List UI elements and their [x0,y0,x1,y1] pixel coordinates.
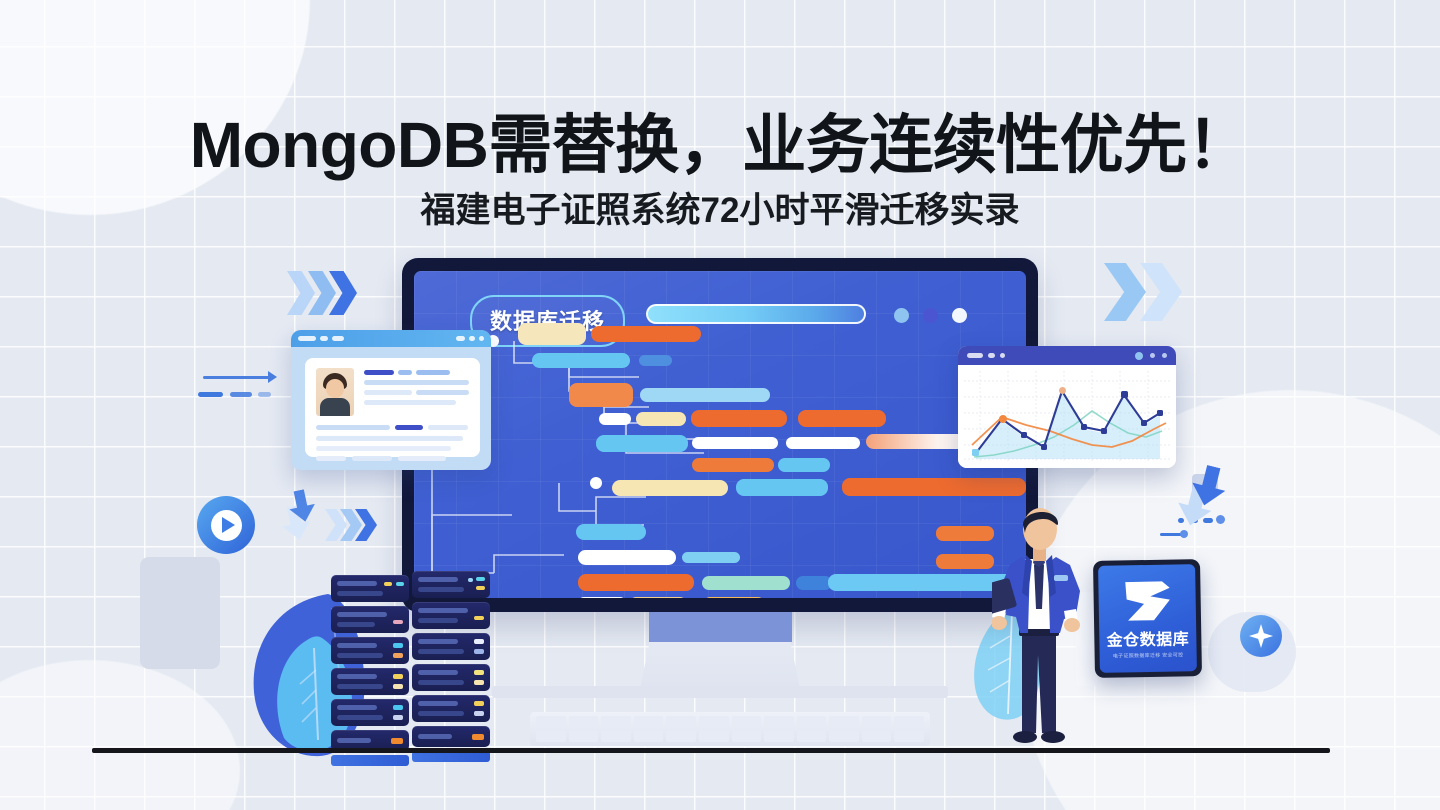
titlebar-segments [967,353,1005,358]
keyboard[interactable] [530,712,930,746]
key [699,731,729,743]
key [634,731,664,743]
dash-right-a [1178,518,1184,523]
server-slot [418,734,452,739]
dot-light-blue[interactable] [1135,352,1143,360]
decor-rounded-rect [140,557,220,669]
dash-b [230,392,252,397]
server-slot [337,612,387,617]
led-indicator [393,705,403,710]
migration-tree-diagram [414,271,1026,598]
titlebar-seg [1000,353,1005,358]
analytics-chart-window[interactable] [958,346,1176,468]
dash-right-c [1203,518,1213,523]
avatar-face [326,379,344,398]
titlebar-seg [298,336,316,341]
diagram-bar [702,576,790,590]
diagram-bar [692,458,774,472]
key [862,731,892,743]
server-slot [418,618,458,623]
key [894,731,924,743]
diagram-bar [599,413,631,425]
led-indicator [391,738,403,744]
server-unit [331,699,409,726]
led-indicator [393,715,403,720]
diagram-bar [778,458,830,472]
led-indicator [474,649,484,654]
key [829,731,859,743]
server-slot [337,738,371,743]
server-unit [412,695,490,722]
diagram-bar [569,383,633,407]
key [699,716,729,728]
key [634,716,664,728]
play-triangle-icon [222,517,235,533]
server-unit [331,575,409,602]
brand-name: 金仓数据库 [1106,625,1189,650]
server-slot [418,711,464,716]
dash-c [258,392,271,397]
server-slot [337,653,383,658]
diagram-bar [692,437,778,449]
led-indicator [396,582,404,586]
led-indicator [476,577,485,581]
field-row [364,400,456,405]
monitor-stand-band [649,612,792,642]
server-unit [412,664,490,691]
field-row [398,456,446,461]
led-indicator [474,711,484,716]
key [536,716,566,728]
server-unit [412,726,490,747]
server-slot [418,670,458,675]
diagram-bar [518,323,586,345]
poster-canvas: MongoDB需替换，业务连续性优先！ 福建电子证照系统72小时平滑迁移实录 [0,0,1440,810]
arrow-head-left [268,371,277,383]
play-ring-icon [197,496,255,554]
titlebar-seg [456,336,465,341]
key [601,731,631,743]
key [666,731,696,743]
status-bar-orange-1 [936,526,994,541]
key [569,731,599,743]
field-row [316,456,346,461]
key [569,716,599,728]
diagram-bar [736,479,828,496]
led-indicator [384,582,392,586]
server-slot [337,622,375,627]
key [894,716,924,728]
server-slot [337,684,383,689]
server-slot [418,701,458,706]
led-indicator [468,578,473,582]
diagram-bar [842,478,1026,496]
field-row [316,436,463,441]
page-title: MongoDB需替换，业务连续性优先！ [0,94,1440,186]
titlebar-seg [332,336,344,341]
key [536,731,566,743]
tablet-screen: 金仓数据库 电子证照数据库迁移 安全可控 [1098,564,1197,673]
avatar-body [320,398,350,416]
page-subtitle: 福建电子证照系统72小时平滑迁移实录 [0,182,1440,233]
server-unit [331,668,409,695]
close-icon[interactable] [479,336,484,341]
key [764,716,794,728]
field-row [352,456,392,461]
field-value-row [395,425,423,430]
diagram-bar [691,410,787,427]
ground-line [92,748,1330,753]
dot-right-2 [1180,530,1188,538]
diagram-bar [636,412,686,426]
kingbase-logo [1120,578,1175,625]
window-titlebar [958,346,1176,365]
monitor-display: 数据库迁移 [402,258,1038,612]
led-indicator [393,643,403,648]
key [797,731,827,743]
led-indicator [474,701,484,706]
led-indicator [393,684,403,689]
key [732,731,762,743]
dot-grey-1[interactable] [1150,353,1155,358]
diagram-bar [640,388,770,402]
diagram-bar [682,552,740,563]
titlebar-seg [320,336,328,341]
diagram-bar [796,576,832,590]
led-indicator [474,680,484,685]
rack-base [331,755,409,766]
dot-grey-2[interactable] [1162,353,1167,358]
line-chart [958,365,1176,468]
key [829,716,859,728]
diagram-bar [532,353,630,368]
server-slot [337,705,377,710]
diagram-bar [591,326,701,342]
field-value-row [398,370,412,375]
led-indicator [474,670,484,675]
product-tablet[interactable]: 金仓数据库 电子证照数据库迁移 安全可控 [1093,559,1202,678]
key [862,716,892,728]
server-slot [418,639,458,644]
server-slot [418,680,464,685]
status-bar-orange-2 [936,554,994,569]
electronic-certificate-window[interactable] [291,330,491,470]
hand-right [1064,618,1080,632]
diagram-bar [612,480,728,496]
led-indicator [476,586,485,590]
dot-right [1216,515,1225,524]
badge [1054,575,1068,581]
certificate-card [305,358,480,457]
server-slot [337,715,383,720]
trousers [1022,633,1056,733]
field-row [416,390,469,395]
chart-area-light [976,393,1160,459]
window-controls [1135,352,1167,360]
field-value-row [416,370,450,375]
diamond-badge-icon [1240,615,1282,657]
diagram-bar [596,435,688,452]
field-row [364,390,412,395]
field-value-row [364,370,394,375]
field-row [316,446,451,451]
field-row [316,425,390,430]
presenter-figure [992,505,1088,753]
key [764,731,794,743]
server-slot [337,581,377,586]
diagram-bar [798,410,886,427]
diagram-bar [576,524,646,540]
diagram-bar [704,597,764,598]
server-rack-right [412,571,490,762]
avatar [316,368,354,416]
titlebar-seg [988,353,995,358]
brand-subtitle: 电子证照数据库迁移 安全可控 [1113,651,1184,659]
led-indicator [474,616,484,620]
server-slot [418,587,464,592]
server-slot [418,577,458,582]
shoe-left [1013,731,1037,743]
server-slot [337,591,383,596]
diagram-bar [786,437,860,449]
led-indicator [393,620,403,624]
hand-left [992,616,1007,630]
server-unit [412,633,490,660]
server-unit [412,571,490,598]
led-indicator [393,674,403,679]
server-unit [331,637,409,664]
window-titlebar [291,330,491,347]
server-slot [337,643,377,648]
arrow-line-left [203,376,271,379]
shoe-right [1041,731,1065,743]
diagram-bar [578,597,626,598]
led-indicator [472,734,484,740]
server-unit [331,606,409,633]
diagram-bar [578,574,694,591]
titlebar-seg [967,353,983,358]
led-indicator [393,653,403,658]
dash-a [198,392,223,397]
server-slot [337,674,377,679]
monitor-screen: 数据库迁移 [414,271,1026,598]
titlebar-seg [469,336,475,341]
diagram-bar [630,597,686,598]
server-rack-left [331,575,409,766]
key [666,716,696,728]
field-row [364,380,469,385]
field-row [428,425,468,430]
diagram-bar [639,355,672,366]
diagram-bar [578,550,676,565]
key [797,716,827,728]
server-unit [412,602,490,629]
server-slot [418,649,464,654]
led-indicator [474,639,484,644]
server-slot [418,608,468,613]
key [732,716,762,728]
key [601,716,631,728]
monitor-stand-base [492,686,948,698]
